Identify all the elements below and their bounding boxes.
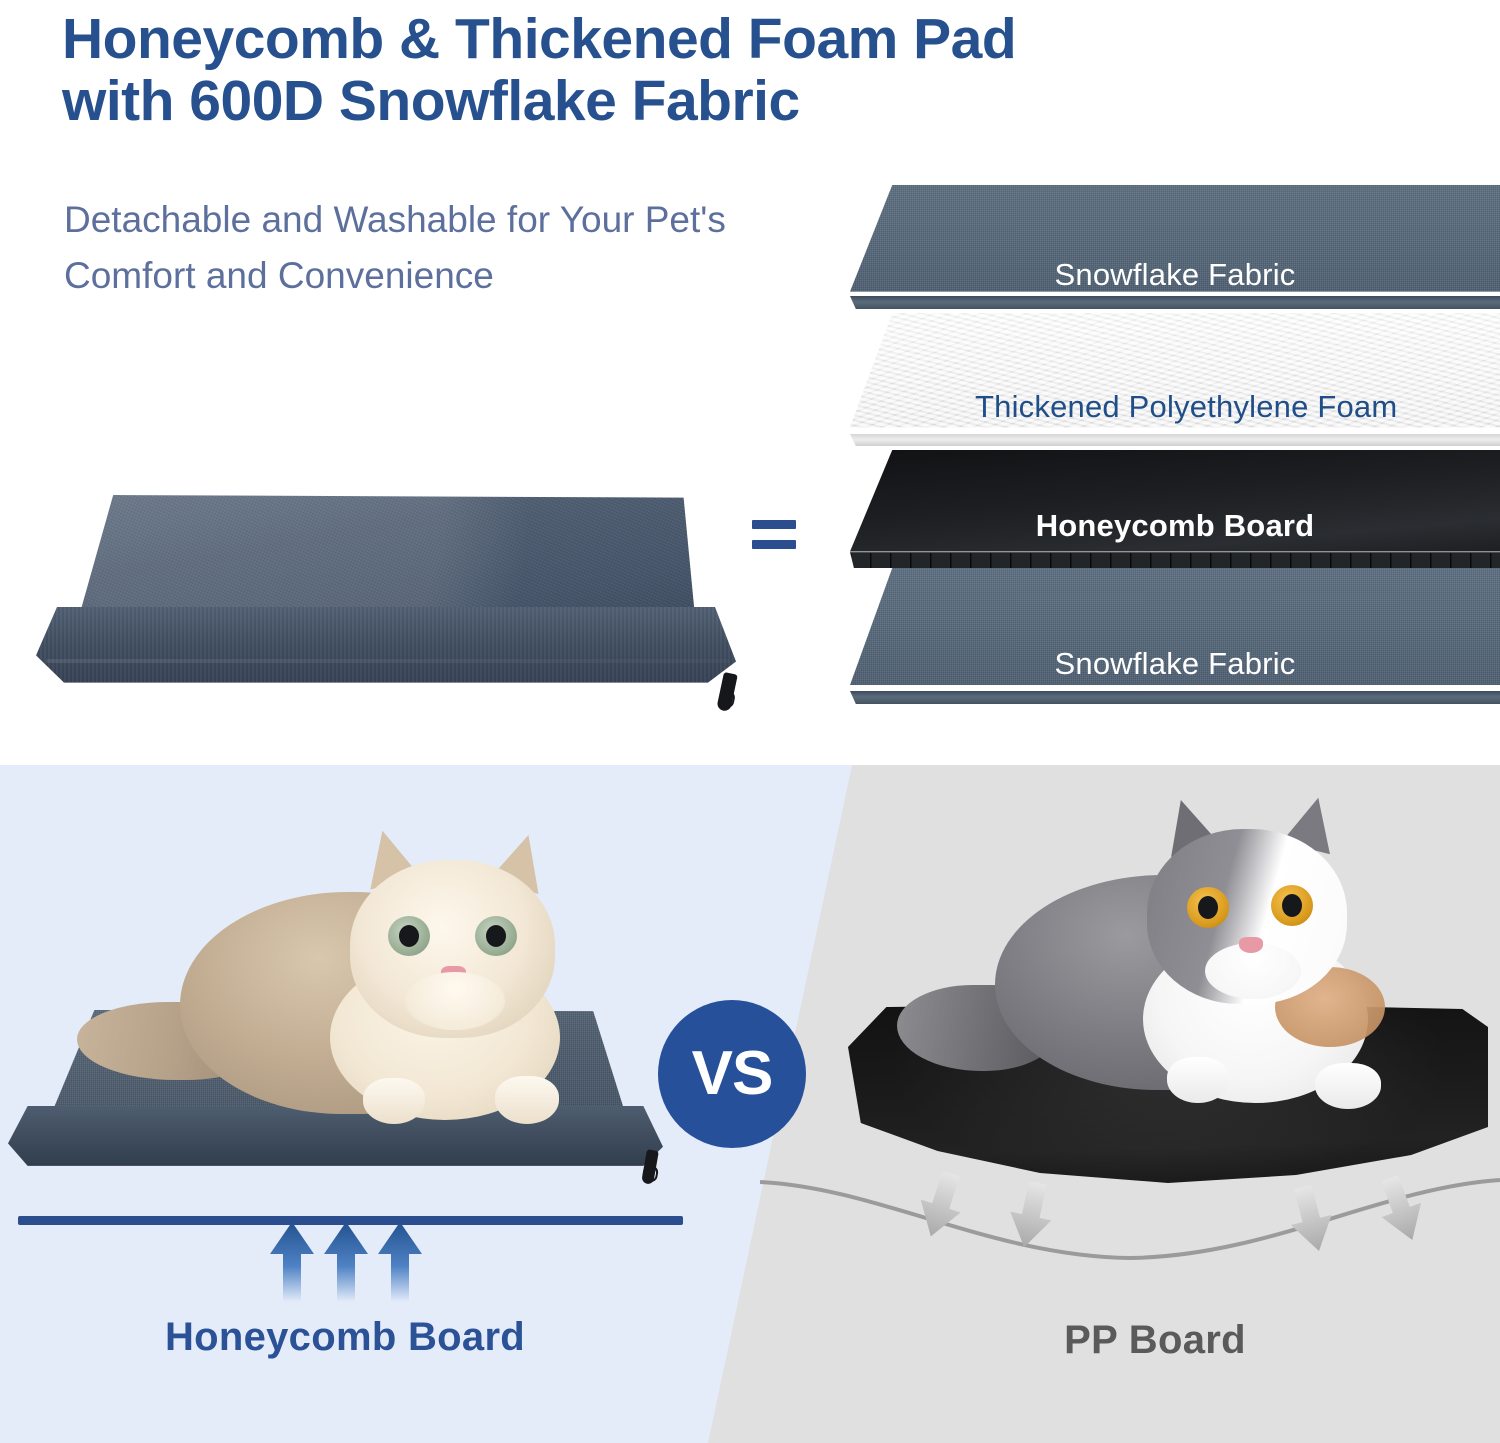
cat-pupil-right	[486, 925, 506, 947]
cat-nose	[1239, 937, 1263, 953]
layer-label: Thickened Polyethylene Foam	[850, 389, 1500, 425]
vs-badge: VS	[658, 1000, 806, 1148]
pad-seam	[46, 659, 730, 663]
cat-pupil-left	[1198, 896, 1218, 919]
layer-edge	[850, 691, 1500, 704]
down-arrow-icon	[918, 1172, 964, 1238]
cat-paw-right	[495, 1076, 559, 1124]
pp-board-caption: PP Board	[810, 1318, 1500, 1363]
page-title: Honeycomb & Thickened Foam Pad with 600D…	[62, 8, 1462, 132]
exploded-layer-diagram: Snowflake Fabric Thickened Polyethylene …	[850, 185, 1500, 665]
equals-sign-icon	[752, 520, 796, 550]
layer-label: Snowflake Fabric	[850, 257, 1500, 293]
pad-side-profile	[36, 607, 736, 695]
layer-edge	[850, 434, 1500, 446]
layer-honeycomb-board: Honeycomb Board	[850, 450, 1500, 568]
cat-paw-right	[1315, 1063, 1381, 1109]
honeycomb-flutes	[850, 552, 1500, 568]
cat-pupil-right	[1282, 894, 1302, 917]
down-arrow-icon	[1288, 1186, 1334, 1252]
honeycomb-board-caption: Honeycomb Board	[0, 1315, 690, 1360]
equals-bar-bottom	[752, 540, 796, 549]
layer-surface	[850, 568, 1500, 704]
up-arrow-icon	[376, 1222, 424, 1302]
layer-label: Snowflake Fabric	[850, 646, 1500, 682]
layer-polyethylene-foam: Thickened Polyethylene Foam	[850, 313, 1500, 446]
zipper-pull-icon	[716, 672, 738, 712]
layer-snowflake-fabric-bottom: Snowflake Fabric	[850, 568, 1500, 704]
cat-eye-right	[475, 916, 517, 956]
assembled-pet-pad-image	[28, 495, 748, 725]
cat-muzzle	[405, 972, 505, 1030]
cat-pupil-left	[399, 925, 419, 947]
layer-surface	[850, 313, 1500, 446]
cat-eye-left	[388, 916, 430, 956]
vs-badge-label: VS	[692, 1043, 773, 1105]
layer-label: Honeycomb Board	[850, 508, 1500, 544]
cat-eye-right	[1271, 885, 1313, 926]
equals-bar-top	[752, 520, 796, 529]
golden-cat-illustration	[75, 820, 675, 1130]
page-subtitle: Detachable and Washable for Your Pet's C…	[64, 192, 944, 304]
cat-paw-left	[1167, 1057, 1229, 1103]
cat-paw-left	[363, 1078, 425, 1124]
down-arrow-icon	[1378, 1176, 1424, 1242]
up-arrow-icon	[268, 1222, 316, 1302]
up-arrow-icon	[322, 1222, 370, 1302]
down-arrow-icon	[1008, 1182, 1054, 1248]
cat-eye-left	[1187, 887, 1229, 928]
grey-white-cat-illustration	[875, 795, 1475, 1125]
product-feature-section: Honeycomb & Thickened Foam Pad with 600D…	[0, 0, 1500, 765]
layer-snowflake-fabric-top: Snowflake Fabric	[850, 185, 1500, 309]
layer-edge	[850, 296, 1500, 309]
